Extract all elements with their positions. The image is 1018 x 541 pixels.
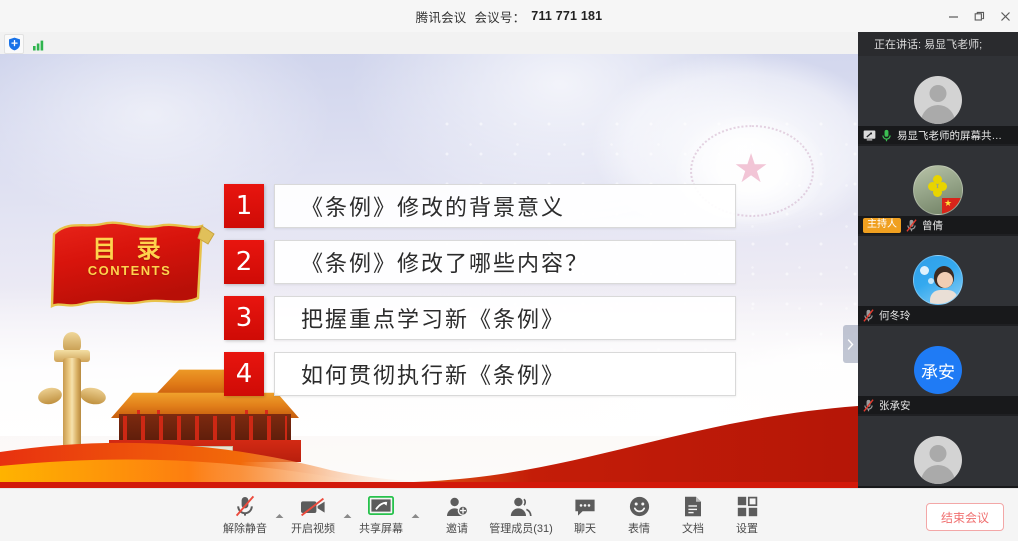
emoji-icon [629, 495, 650, 517]
meeting-number: 711 771 181 [531, 9, 602, 23]
screen-share-icon [368, 495, 394, 517]
toc-item: 3 把握重点学习新《条例》 [224, 296, 736, 340]
participant-tile-list[interactable]: 易显飞老师的屏幕共… 主持人 [858, 56, 1018, 488]
minimize-button[interactable] [940, 0, 966, 32]
toolbar-emoji-button[interactable]: 表情 [612, 489, 666, 541]
chevron-up-icon [411, 513, 420, 519]
toolbar-start-video-button[interactable]: 开启视频 [286, 489, 340, 541]
tile-status-bar: 易显飞老师的屏幕共… [858, 126, 1018, 144]
toc-number: 4 [224, 352, 264, 396]
toc-item: 2 《条例》修改了哪些内容？ [224, 240, 736, 284]
avatar-head [930, 85, 947, 102]
mic-muted-icon [906, 219, 917, 232]
toolbar-label: 解除静音 [223, 520, 267, 536]
avatar-body [930, 290, 958, 304]
participant-name: 张承安 [879, 398, 911, 413]
slide-contents-list: 1 《条例》修改的背景意义 2 《条例》修改了哪些内容？ 3 把握重点学习新《条… [224, 184, 736, 408]
toolbar-buttons: 解除静音 开启视频 [218, 489, 774, 541]
meeting-number-label: 会议号： [474, 7, 525, 26]
close-icon [1000, 11, 1011, 22]
participant-panel: 正在讲话: 易显飞老师; [858, 32, 1018, 488]
title-bar: 腾讯会议 会议号： 711 771 181 [0, 0, 1018, 33]
avatar [913, 255, 963, 305]
settings-grid-icon [737, 495, 758, 517]
avatar: 承安 [914, 346, 962, 394]
participant-name: 曾倩 [922, 218, 943, 233]
mic-muted-icon [863, 399, 874, 412]
contents-flag-graphic: 目 录 CONTENTS [42, 212, 217, 320]
toolbar-label: 管理成员(31) [489, 520, 553, 536]
toolbar-audio-menu-caret[interactable] [272, 489, 286, 541]
toolbar-label: 设置 [736, 520, 758, 536]
participant-tile[interactable]: 易显飞老师的屏幕共… [858, 56, 1018, 144]
meeting-toolbar: 解除静音 开启视频 [0, 488, 1018, 541]
panel-collapse-handle[interactable] [843, 325, 858, 363]
toolbar-video-menu-caret[interactable] [340, 489, 354, 541]
tile-status-bar: 张承安 [858, 396, 1018, 414]
participant-tile[interactable]: 何冬玲 [858, 236, 1018, 324]
tile-status-bar: 主持人 曾倩 [858, 216, 1018, 234]
toc-item: 4 如何贯彻执行新《条例》 [224, 352, 736, 396]
chevron-right-icon [847, 339, 854, 350]
app-name: 腾讯会议 [416, 7, 467, 26]
host-badge: 主持人 [863, 218, 901, 233]
toc-item: 1 《条例》修改的背景意义 [224, 184, 736, 228]
screen-share-icon [863, 130, 876, 141]
toolbar-label: 表情 [628, 520, 650, 536]
avatar-face [937, 272, 953, 288]
chevron-up-icon [343, 513, 352, 519]
avatar-shoulders [921, 465, 955, 484]
toolbar-label: 文档 [682, 520, 704, 536]
avatar-flag-decoration [942, 198, 962, 214]
chevron-up-icon [275, 513, 284, 519]
toolbar-share-screen-button[interactable]: 共享屏幕 [354, 489, 408, 541]
avatar-flower-decoration [928, 175, 948, 195]
network-signal-button[interactable] [29, 34, 49, 54]
mic-on-icon [881, 129, 892, 142]
tencent-meeting-window: 腾讯会议 会议号： 711 771 181 [0, 0, 1018, 540]
avatar [914, 436, 962, 484]
toolbar-label: 开启视频 [291, 520, 335, 536]
chat-bubble-icon [574, 495, 596, 517]
toolbar-label: 共享屏幕 [359, 520, 403, 536]
shared-screen-stage[interactable]: ★ 中华人民… [0, 54, 858, 488]
camera-off-icon [300, 495, 326, 517]
toolbar-document-button[interactable]: 文档 [666, 489, 720, 541]
toolbar-label: 聊天 [574, 520, 596, 536]
avatar-shoulders [921, 105, 955, 124]
participant-tile[interactable]: 焦洁 [858, 416, 1018, 488]
avatar-head [930, 445, 947, 462]
huabiao-beast [63, 332, 81, 352]
toolbar-label: 邀请 [446, 520, 468, 536]
mic-muted-icon [863, 309, 874, 322]
security-shield-button[interactable] [4, 34, 24, 54]
avatar-bubble-decoration [920, 266, 929, 275]
toc-number: 2 [224, 240, 264, 284]
presentation-slide: ★ 中华人民… [0, 54, 858, 488]
document-icon [684, 495, 702, 517]
toc-label: 《条例》修改了哪些内容？ [274, 240, 736, 284]
toc-label: 《条例》修改的背景意义 [274, 184, 736, 228]
toolbar-manage-members-button[interactable]: 管理成员(31) [484, 489, 558, 541]
participant-tile[interactable]: 主持人 曾倩 [858, 146, 1018, 234]
maximize-button[interactable] [966, 0, 992, 32]
end-meeting-button[interactable]: 结束会议 [926, 503, 1004, 531]
participant-tile[interactable]: 承安 张承安 [858, 326, 1018, 414]
toolbar-unmute-button[interactable]: 解除静音 [218, 489, 272, 541]
toc-label: 把握重点学习新《条例》 [274, 296, 736, 340]
mic-muted-icon [235, 495, 255, 517]
signal-bars-icon [32, 38, 46, 51]
toc-number: 3 [224, 296, 264, 340]
toc-label: 如何贯彻执行新《条例》 [274, 352, 736, 396]
tile-video-area [858, 416, 1018, 488]
active-speaker-banner: 正在讲话: 易显飞老师; [858, 32, 1018, 56]
manage-members-icon [509, 495, 533, 517]
tile-status-bar: 何冬玲 [858, 306, 1018, 324]
toolbar-settings-button[interactable]: 设置 [720, 489, 774, 541]
toolbar-invite-button[interactable]: 邀请 [430, 489, 484, 541]
restore-icon [974, 11, 985, 22]
window-title: 腾讯会议 会议号： 711 771 181 [0, 0, 1018, 32]
minimize-icon [948, 11, 959, 22]
avatar [913, 165, 963, 215]
toolbar-chat-button[interactable]: 聊天 [558, 489, 612, 541]
avatar [914, 76, 962, 124]
toc-number: 1 [224, 184, 264, 228]
toolbar-share-menu-caret[interactable] [408, 489, 422, 541]
participant-name: 易显飞老师的屏幕共… [897, 128, 1002, 143]
invite-person-icon [446, 495, 468, 517]
status-icon-group [4, 34, 49, 54]
participant-name: 何冬玲 [879, 308, 911, 323]
close-button[interactable] [992, 0, 1018, 32]
shield-icon [8, 37, 21, 51]
window-controls [940, 0, 1018, 32]
